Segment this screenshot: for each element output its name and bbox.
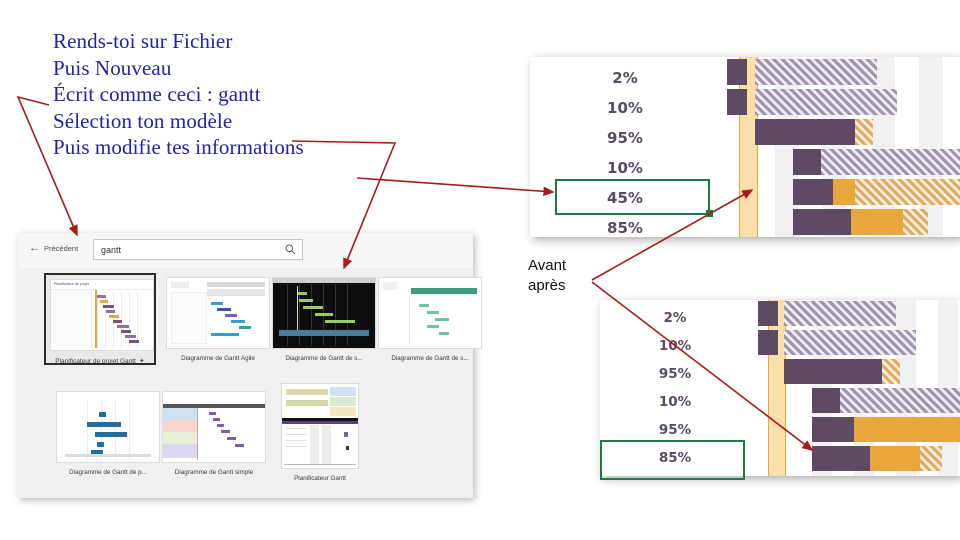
back-button[interactable]: ← Précédent [29,243,78,254]
template-thumbnail-4 [378,277,482,349]
gantt-chart-before: 2% 10% 95% 10% 45% 85% [530,57,960,237]
template-card-4[interactable]: Diagramme de Gantt de s... [378,277,482,362]
gantt-row-after-2 [758,330,943,355]
template-grid: Planificateur de projet [18,271,473,498]
percent-label-4: 10% [565,159,685,177]
gantt-row-1 [727,59,927,85]
search-input[interactable]: gantt [93,239,303,260]
percent-label-after-1: 2% [620,310,730,326]
instruction-line-5: Puis modifie tes informations [53,134,383,161]
percent-label-after-4: 10% [620,394,730,410]
template-label-2: Diagramme de Gantt Agile [166,355,270,362]
pin-icon[interactable]: ✦ [139,358,145,365]
instruction-text-block: Rends-toi sur Fichier Puis Nouveau Écrit… [53,28,383,161]
template-label-1: Planificateur de projet Gantt✦ [50,357,150,365]
percent-label-after-2: 10% [620,338,730,354]
gantt-row-5 [793,179,960,205]
gantt-row-6 [793,209,928,235]
template-picker-window: ← Précédent gantt Planific [18,233,473,498]
template-card-2[interactable]: Diagramme de Gantt Agile [166,277,270,362]
template-label-3: Diagramme de Gantt de s... [272,355,376,362]
template-label-5: Diagramme de Gantt de p... [56,469,160,476]
template-thumbnail-5 [56,391,160,463]
search-icon[interactable] [285,244,296,255]
picker-toolbar: ← Précédent gantt [18,233,473,268]
template-card-3[interactable]: Diagramme de Gantt de s... [272,277,376,362]
template-label-7: Planificateur Gantt [268,475,372,482]
selection-box-after[interactable] [600,440,745,480]
arrow-left-icon: ← [29,243,40,254]
instruction-line-4: Sélection ton modèle [53,108,383,135]
selection-box-before[interactable] [555,179,710,215]
instruction-line-1: Rends-toi sur Fichier [53,28,383,55]
slide-canvas: Rends-toi sur Fichier Puis Nouveau Écrit… [0,0,960,540]
percent-label-1: 2% [565,69,685,87]
template-card-1[interactable]: Planificateur de projet [44,273,156,365]
percent-label-after-5: 95% [620,422,730,438]
percent-label-after-3: 95% [620,366,730,382]
percent-label-6: 85% [565,219,685,237]
gantt-row-after-3 [758,359,953,384]
gantt-chart-after: 2% 10% 95% 10% 95% 85% [600,300,960,476]
gantt-row-3 [727,119,952,145]
template-card-5[interactable]: Diagramme de Gantt de p... [56,391,160,476]
gantt-bars-before [715,57,960,237]
instruction-line-2: Puis Nouveau [53,55,383,82]
template-card-7[interactable]: Planificateur Gantt [268,383,372,482]
template-thumbnail-6 [162,391,266,463]
template-label-6: Diagramme de Gantt simple [162,469,266,476]
gantt-row-4 [793,149,960,175]
instruction-line-3: Écrit comme ceci : gantt [53,81,383,108]
template-thumbnail-3 [272,277,376,349]
percent-label-3: 95% [565,129,685,147]
template-card-6[interactable]: Diagramme de Gantt simple [162,391,266,476]
gantt-row-after-5 [812,417,960,442]
thumb-title-1: Planificateur de projet [54,282,89,286]
gantt-row-after-6 [812,446,942,471]
apres-label: après [528,276,566,296]
template-thumbnail-1: Planificateur de projet [50,279,154,351]
template-thumbnail-2 [166,277,270,349]
template-thumbnail-7 [281,383,359,469]
gantt-row-after-1 [758,301,933,326]
search-input-value: gantt [101,245,121,255]
selection-handle-before[interactable] [706,210,713,217]
gantt-row-after-4 [812,388,960,413]
arrow-to-chart-before [357,178,553,192]
avant-label: Avant [528,256,566,276]
back-button-label: Précédent [44,244,78,253]
gantt-bars-after [750,300,960,476]
template-label-4: Diagramme de Gantt de s... [378,355,482,362]
avant-apres-caption: Avant après [528,256,566,296]
percent-label-2: 10% [565,99,685,117]
gantt-row-2 [727,89,942,115]
